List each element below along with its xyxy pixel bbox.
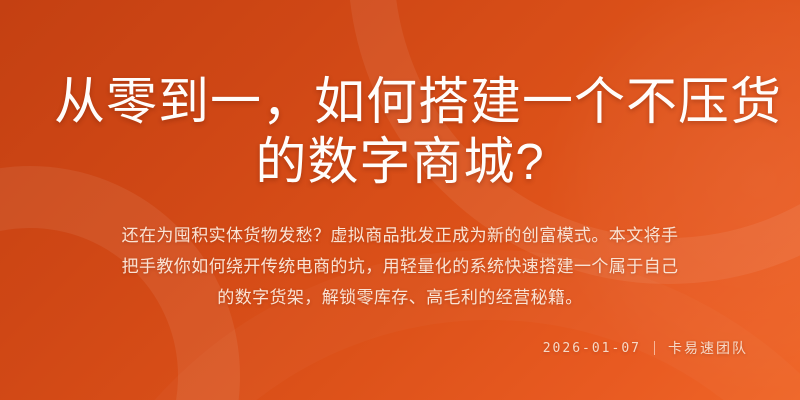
title-line-2: 的数字商城?	[54, 132, 746, 192]
page-subtitle: 还在为囤积实体货物发愁？虚拟商品批发正成为新的创富模式。本文将手 把手教你如何绕…	[122, 220, 679, 313]
publish-date: 2026-01-07	[543, 341, 641, 356]
banner-footer: 2026-01-07 卡易速团队	[543, 338, 748, 358]
subtitle-line-2: 把手教你如何绕开传统电商的坑，用轻量化的系统快速搭建一个属于自己	[122, 251, 679, 282]
page-title: 从零到一，如何搭建一个不压货 的数字商城?	[54, 72, 746, 192]
title-line-1: 从零到一，如何搭建一个不压货	[54, 72, 746, 132]
subtitle-line-3: 的数字货架，解锁零库存、高毛利的经营秘籍。	[122, 282, 679, 313]
team-name: 卡易速团队	[668, 338, 748, 358]
footer-separator-icon	[654, 341, 655, 355]
article-cover-banner: 从零到一，如何搭建一个不压货 的数字商城? 还在为囤积实体货物发愁？虚拟商品批发…	[0, 0, 800, 400]
subtitle-line-1: 还在为囤积实体货物发愁？虚拟商品批发正成为新的创富模式。本文将手	[122, 220, 679, 251]
